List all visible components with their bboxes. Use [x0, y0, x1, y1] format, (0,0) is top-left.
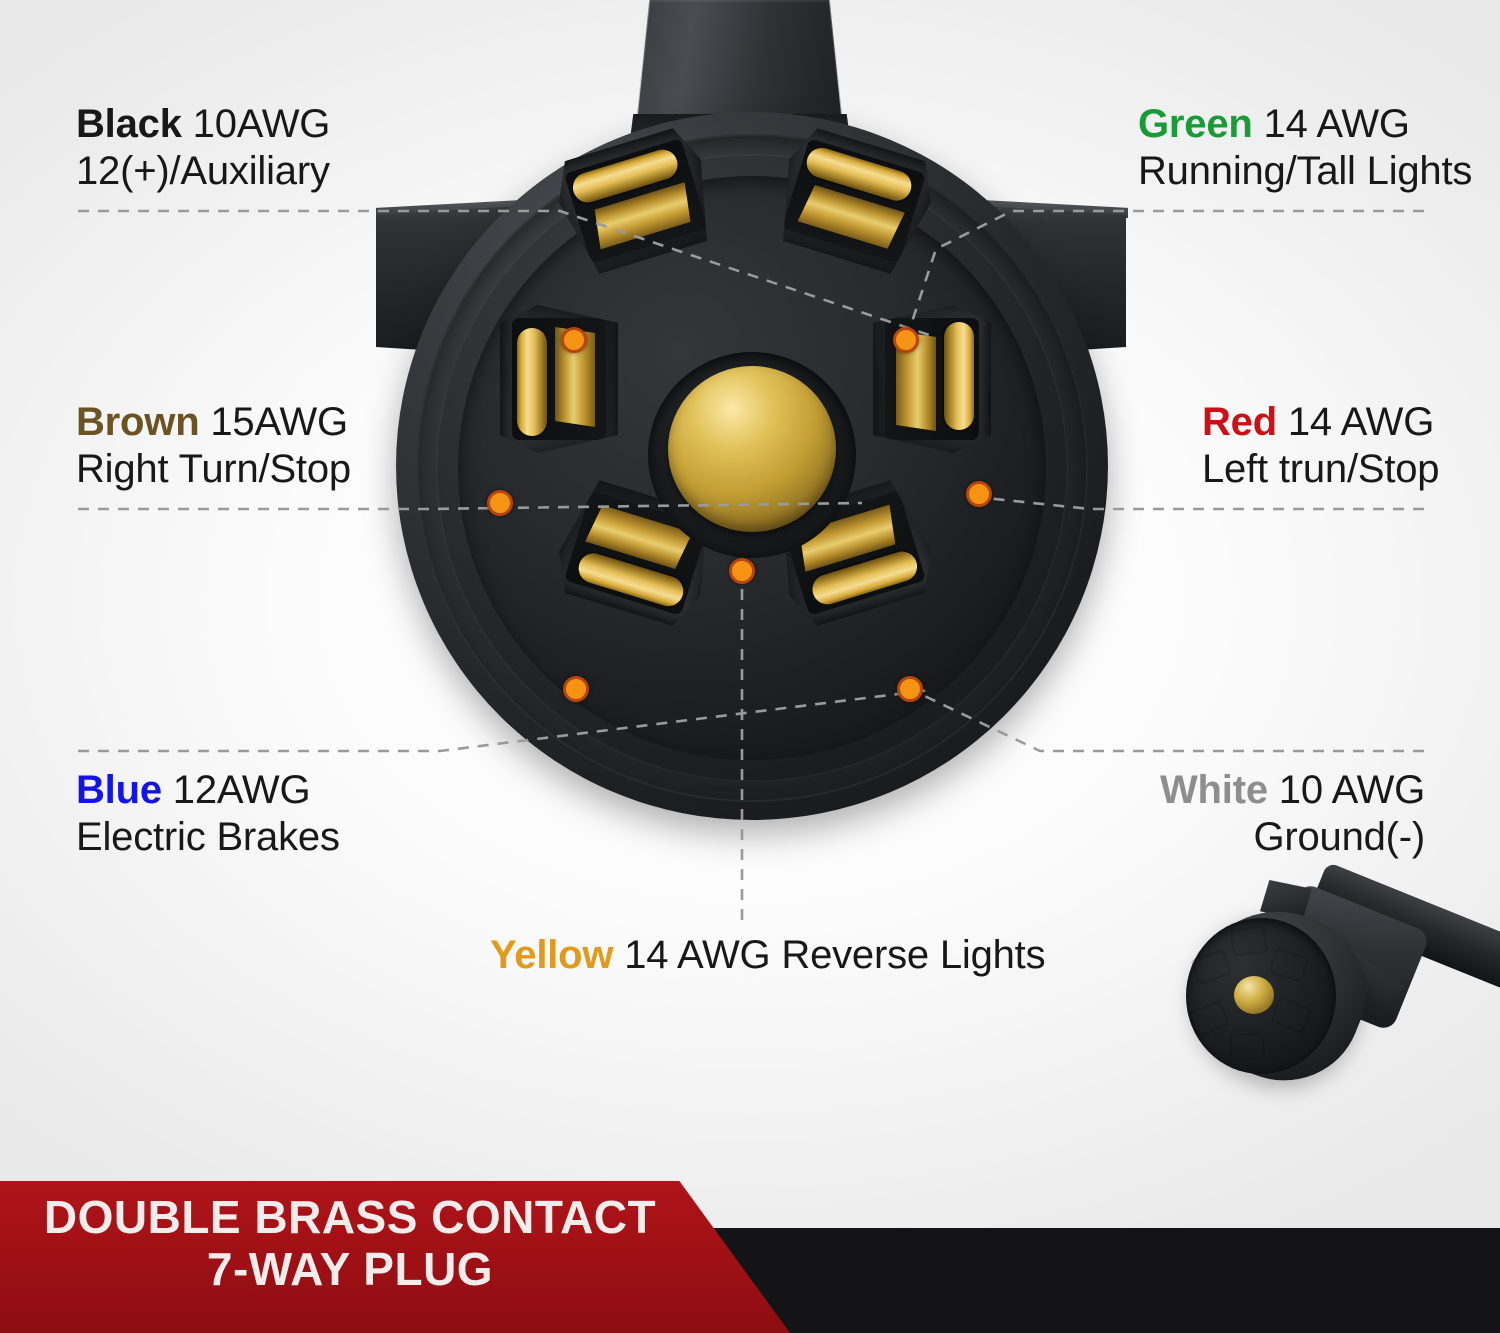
infographic-canvas: Black 10AWG 12(+)/Auxiliary Green 14 AWG…: [0, 0, 1500, 1333]
label-black: Black 10AWG 12(+)/Auxiliary: [76, 101, 330, 195]
label-yellow: Yellow 14 AWG Reverse Lights: [490, 932, 1045, 979]
marker-white: [897, 676, 923, 702]
inset-center-pin: [1234, 976, 1274, 1014]
label-black-line1: Black 10AWG: [76, 101, 330, 148]
label-brown: Brown 15AWG Right Turn/Stop: [76, 399, 351, 493]
marker-red: [966, 481, 992, 507]
inset-pin-1: [1230, 926, 1267, 956]
label-green-function: Running/Tall Lights: [1138, 148, 1472, 195]
label-blue-line1: Blue 12AWG: [76, 767, 340, 814]
marker-blue: [563, 676, 589, 702]
label-green-line1: Green 14 AWG: [1138, 101, 1472, 148]
marker-black: [561, 327, 587, 353]
label-white-color-word: White: [1160, 768, 1268, 812]
contact-yellow-center-pin: [668, 366, 836, 532]
connector-illustration: [362, 0, 1142, 820]
product-photo-inset: [1168, 866, 1500, 1126]
label-white-function: Ground(-): [1160, 814, 1425, 861]
label-yellow-color-word: Yellow: [490, 933, 613, 977]
label-blue: Blue 12AWG Electric Brakes: [76, 767, 340, 861]
label-black-function: 12(+)/Auxiliary: [76, 148, 330, 195]
label-black-color-word: Black: [76, 102, 182, 146]
label-yellow-line1: Yellow 14 AWG Reverse Lights: [490, 932, 1045, 979]
label-white-line1: White 10 AWG: [1160, 767, 1425, 814]
label-brown-line1: Brown 15AWG: [76, 399, 351, 446]
marker-yellow: [729, 558, 755, 584]
contact-blade: [517, 328, 547, 436]
marker-green: [893, 327, 919, 353]
label-blue-gauge: 12AWG: [162, 768, 310, 812]
label-yellow-gauge: 14 AWG Reverse Lights: [613, 933, 1045, 977]
label-green: Green 14 AWG Running/Tall Lights: [1138, 101, 1472, 195]
label-red: Red 14 AWG Left trun/Stop: [1202, 399, 1439, 493]
label-brown-color-word: Brown: [76, 400, 199, 444]
label-brown-function: Right Turn/Stop: [76, 446, 351, 493]
contact-red: [873, 305, 991, 453]
label-red-line1: Red 14 AWG: [1202, 399, 1439, 446]
inset-pin-4: [1229, 1033, 1265, 1061]
label-red-color-word: Red: [1202, 400, 1277, 444]
label-green-color-word: Green: [1138, 102, 1253, 146]
label-blue-color-word: Blue: [76, 768, 162, 812]
contact-brown: [500, 305, 618, 453]
banner-line-2: 7-WAY PLUG: [0, 1244, 700, 1296]
marker-brown: [487, 490, 513, 516]
connector-top-tab: [636, 0, 842, 126]
banner-line-1: DOUBLE BRASS CONTACT: [0, 1192, 700, 1244]
banner-text: DOUBLE BRASS CONTACT 7-WAY PLUG: [0, 1192, 700, 1295]
label-white: White 10 AWG Ground(-): [1160, 767, 1425, 861]
label-brown-gauge: 15AWG: [199, 400, 347, 444]
label-green-gauge: 14 AWG: [1253, 102, 1410, 146]
label-red-gauge: 14 AWG: [1277, 400, 1434, 444]
contact-blade: [944, 322, 974, 430]
label-black-gauge: 10AWG: [182, 102, 330, 146]
label-white-gauge: 10 AWG: [1268, 768, 1425, 812]
label-red-function: Left trun/Stop: [1202, 446, 1439, 493]
label-blue-function: Electric Brakes: [76, 814, 340, 861]
